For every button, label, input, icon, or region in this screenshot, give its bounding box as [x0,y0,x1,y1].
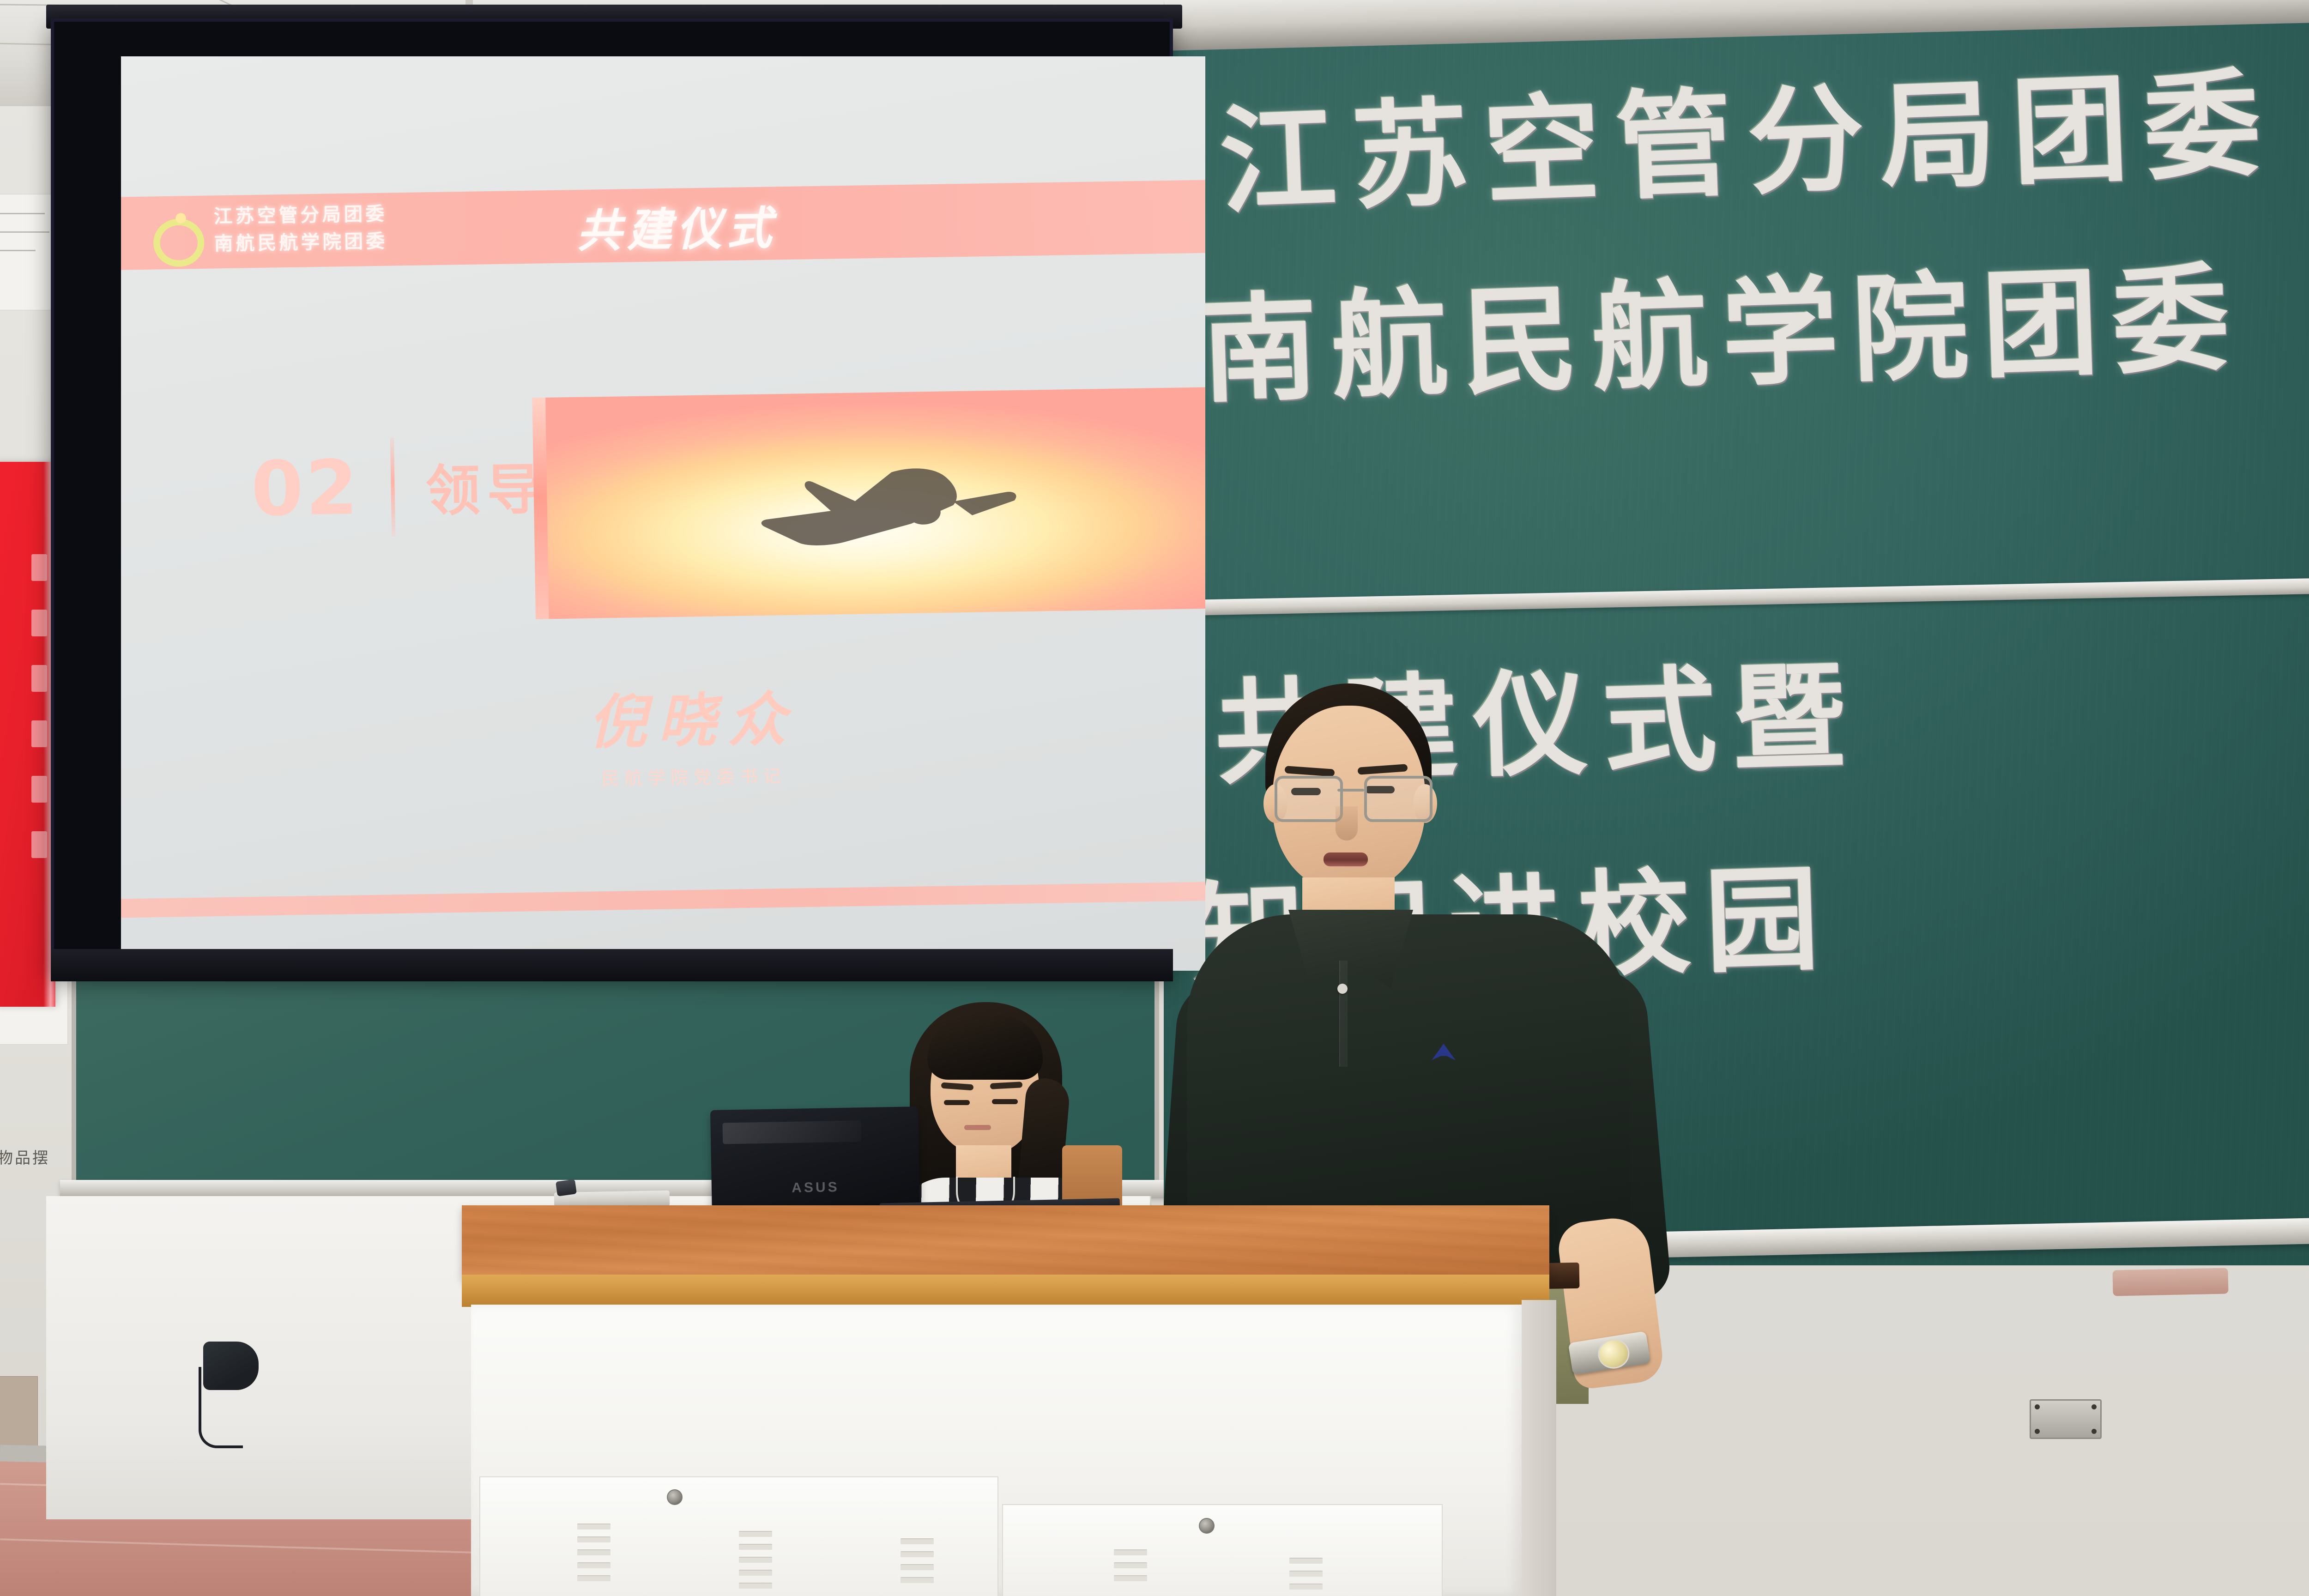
cabinet-door-left[interactable] [479,1476,998,1596]
operator-fringe [927,1015,1043,1080]
slide-speaker-role: 民航学院党委书记 [529,760,859,791]
screen-bottom-bar [51,949,1173,981]
wall-notice-text: 物品摆 [0,1145,50,1168]
podium-wood-grain [462,1205,1549,1279]
podium-edge-lip [462,1275,1549,1307]
emblem-icon [150,204,196,260]
podium-side-panel [1522,1300,1556,1596]
presenter-nose [1336,806,1358,840]
projection-screen-surface: 江苏空管分局团委 南航民航学院团委 共建仪式 02 领导寄语 [121,56,1205,971]
desk-microphone-head[interactable] [556,1179,577,1197]
slide-event-title: 共建仪式 [576,191,777,260]
wall-bracket-right [2030,1399,2102,1439]
podium [462,1205,1549,1596]
slide-footer-band [121,881,1205,919]
laptop[interactable]: ASUS [710,1106,920,1219]
presenter-placket [1339,961,1348,1067]
keyhole-icon[interactable] [667,1489,683,1505]
airplane-silhouette-icon [689,451,1062,565]
slide-org-block: 江苏空管分局团委 南航民航学院团委 [213,198,544,258]
chalk-eraser-icon [2112,1268,2228,1296]
speaker-cable [199,1367,243,1448]
slide-org-line-1: 江苏空管分局团委 [213,198,544,230]
slide-section-divider [390,438,395,537]
red-wall-banner [0,462,55,1007]
classroom-photo-scene: 物品摆 江苏空管分局团委 南航民航学院团委 共建仪式暨 知识进校园 [0,0,2309,1596]
laptop-brand-label: ASUS [712,1178,920,1197]
slide-speaker-name: 倪晓众 [527,671,858,761]
laptop-lid-reflection [722,1120,861,1144]
projection-screen-frame: 江苏空管分局团委 南航民航学院团委 共建仪式 02 领导寄语 [51,18,1173,974]
slide-section-number: 02 [250,450,360,527]
presentation-slide: 江苏空管分局团委 南航民航学院团委 共建仪式 02 领导寄语 [121,56,1205,971]
chalkboard-line-2: 南航民航学院团委 [1198,224,2245,425]
cabinet-door-right[interactable] [1002,1504,1443,1596]
podium-cabinet [471,1305,1522,1596]
operator-eye-right [992,1099,1018,1104]
presenter-mouth [1324,852,1368,866]
slide-photo [532,387,1205,619]
keyhole-icon-right[interactable] [1199,1518,1215,1534]
presenter-shirt-button [1337,984,1348,994]
slide-org-line-2: 南航民航学院团委 [214,225,544,258]
operator-mouth [964,1125,991,1130]
podium-worktop [462,1205,1549,1279]
operator-eye-left [944,1100,970,1105]
